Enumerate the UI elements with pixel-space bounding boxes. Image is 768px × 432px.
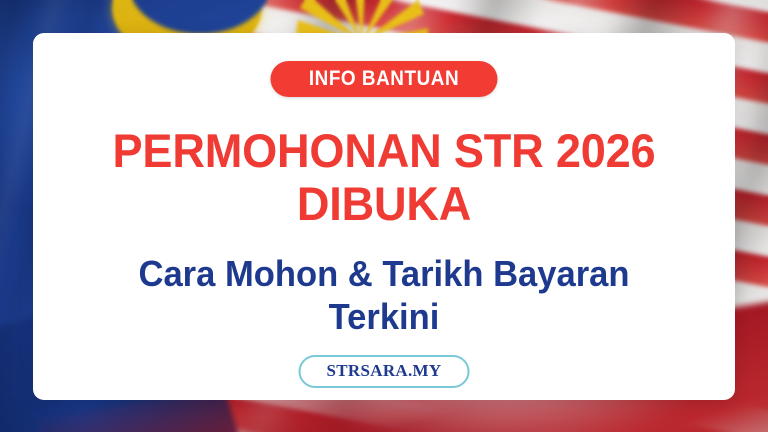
subtitle-line-2: Terkini (329, 296, 440, 337)
subtitle-line-1: Cara Mohon & Tarikh Bayaran (138, 253, 629, 294)
info-badge-label: INFO BANTUAN (309, 68, 459, 89)
info-banner: INFO BANTUAN PERMOHONAN STR 2026 DIBUKA … (0, 0, 768, 432)
headline-line-1: PERMOHONAN STR 2026 (113, 124, 656, 177)
info-badge: INFO BANTUAN (270, 61, 497, 97)
headline-line-2: DIBUKA (297, 177, 471, 230)
card-content: PERMOHONAN STR 2026 DIBUKA Cara Mohon & … (33, 125, 735, 339)
content-card: INFO BANTUAN PERMOHONAN STR 2026 DIBUKA … (33, 33, 735, 400)
page-title: PERMOHONAN STR 2026 DIBUKA (87, 125, 680, 230)
site-badge[interactable]: STRSARA.MY (299, 355, 470, 388)
page-subtitle: Cara Mohon & Tarikh Bayaran Terkini (87, 252, 680, 338)
site-badge-label: STRSARA.MY (327, 361, 442, 380)
